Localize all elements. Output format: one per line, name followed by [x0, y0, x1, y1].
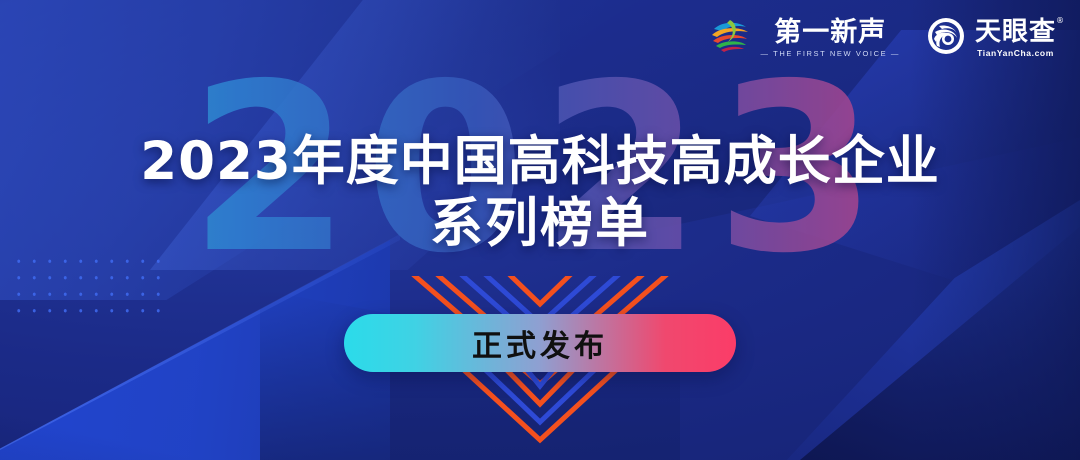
tianyancha-name-cn-text: 天眼查	[975, 17, 1056, 47]
headline-line-2: 系列榜单	[0, 192, 1080, 256]
banner-headline: 2023年度中国高科技高成长企业 系列榜单	[0, 132, 1080, 256]
tianyancha-domain: TianYanCha.com	[977, 49, 1054, 58]
headline-line-1: 2023年度中国高科技高成长企业	[0, 132, 1080, 192]
diyixinsheng-name-en: — THE FIRST NEW VOICE —	[761, 50, 900, 58]
release-status-button[interactable]: 正式发布	[344, 314, 736, 372]
logo-tianyancha[interactable]: 天眼查® TianYanCha.com	[926, 16, 1056, 61]
logo-diyixinsheng[interactable]: 第一新声 — THE FIRST NEW VOICE —	[708, 16, 900, 61]
tianyancha-logo-text: 天眼查® TianYanCha.com	[975, 19, 1056, 58]
chevron-decoration-lower	[375, 360, 705, 460]
registered-mark-icon: ®	[1056, 17, 1065, 25]
diyixinsheng-logo-text: 第一新声 — THE FIRST NEW VOICE —	[761, 19, 900, 58]
promo-banner: 2023 2023年度中国高科技高	[0, 0, 1080, 460]
diyixinsheng-logo-icon	[708, 16, 752, 61]
release-status-label: 正式发布	[472, 321, 608, 365]
logo-bar: 第一新声 — THE FIRST NEW VOICE —	[708, 12, 1056, 64]
tianyancha-name-cn: 天眼查®	[975, 19, 1056, 45]
tianyancha-logo-icon	[926, 16, 966, 61]
diyixinsheng-name-cn: 第一新声	[774, 19, 886, 46]
